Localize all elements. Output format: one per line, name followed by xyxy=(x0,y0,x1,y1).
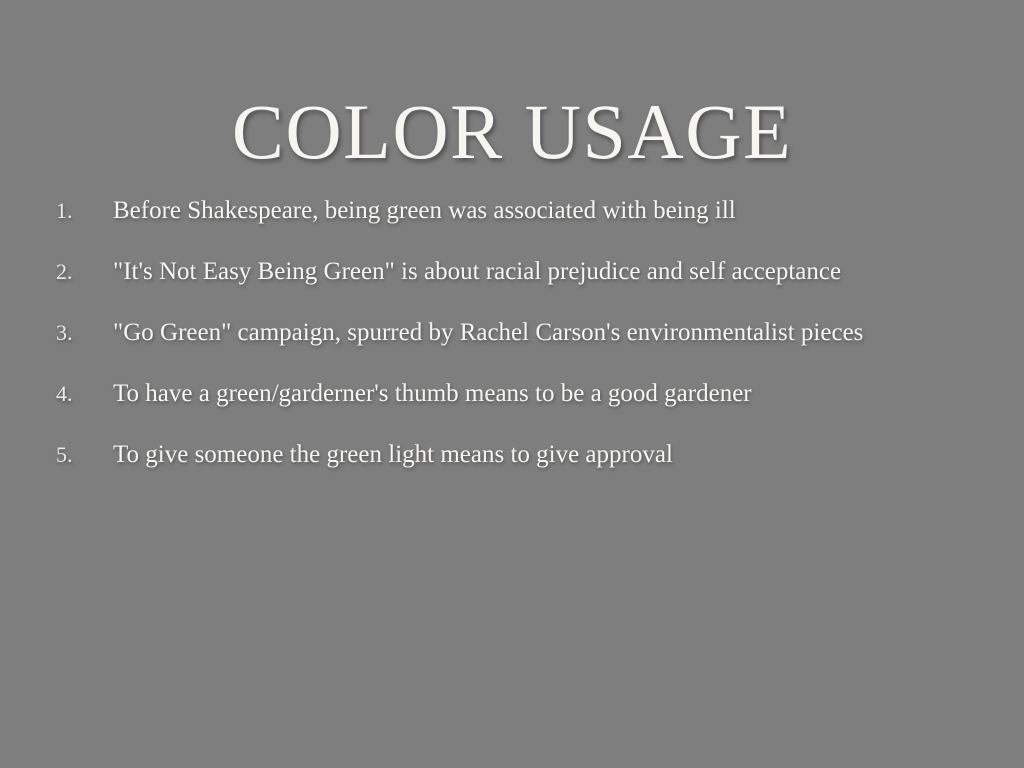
list-item-number: 3. xyxy=(56,318,113,348)
slide-title: COLOR USAGE xyxy=(0,86,1024,178)
numbered-bullet-list: 1. Before Shakespeare, being green was a… xyxy=(56,196,996,470)
list-item-number: 4. xyxy=(56,379,113,409)
list-item-text: "Go Green" campaign, spurred by Rachel C… xyxy=(113,318,996,348)
list-item: 1. Before Shakespeare, being green was a… xyxy=(56,196,996,226)
list-item: 3. "Go Green" campaign, spurred by Rache… xyxy=(56,318,996,348)
list-item-number: 2. xyxy=(56,257,113,287)
list-item: 5. To give someone the green light means… xyxy=(56,440,996,470)
list-item: 2. "It's Not Easy Being Green" is about … xyxy=(56,257,996,287)
list-item-text: To have a green/garderner's thumb means … xyxy=(113,379,996,409)
list-item-text: To give someone the green light means to… xyxy=(113,440,996,470)
list-item-text: Before Shakespeare, being green was asso… xyxy=(113,196,996,226)
list-item-number: 1. xyxy=(56,196,113,226)
presentation-slide: COLOR USAGE 1. Before Shakespeare, being… xyxy=(0,0,1024,768)
list-item-number: 5. xyxy=(56,440,113,470)
list-item-text: "It's Not Easy Being Green" is about rac… xyxy=(113,257,996,287)
list-item: 4. To have a green/garderner's thumb mea… xyxy=(56,379,996,409)
